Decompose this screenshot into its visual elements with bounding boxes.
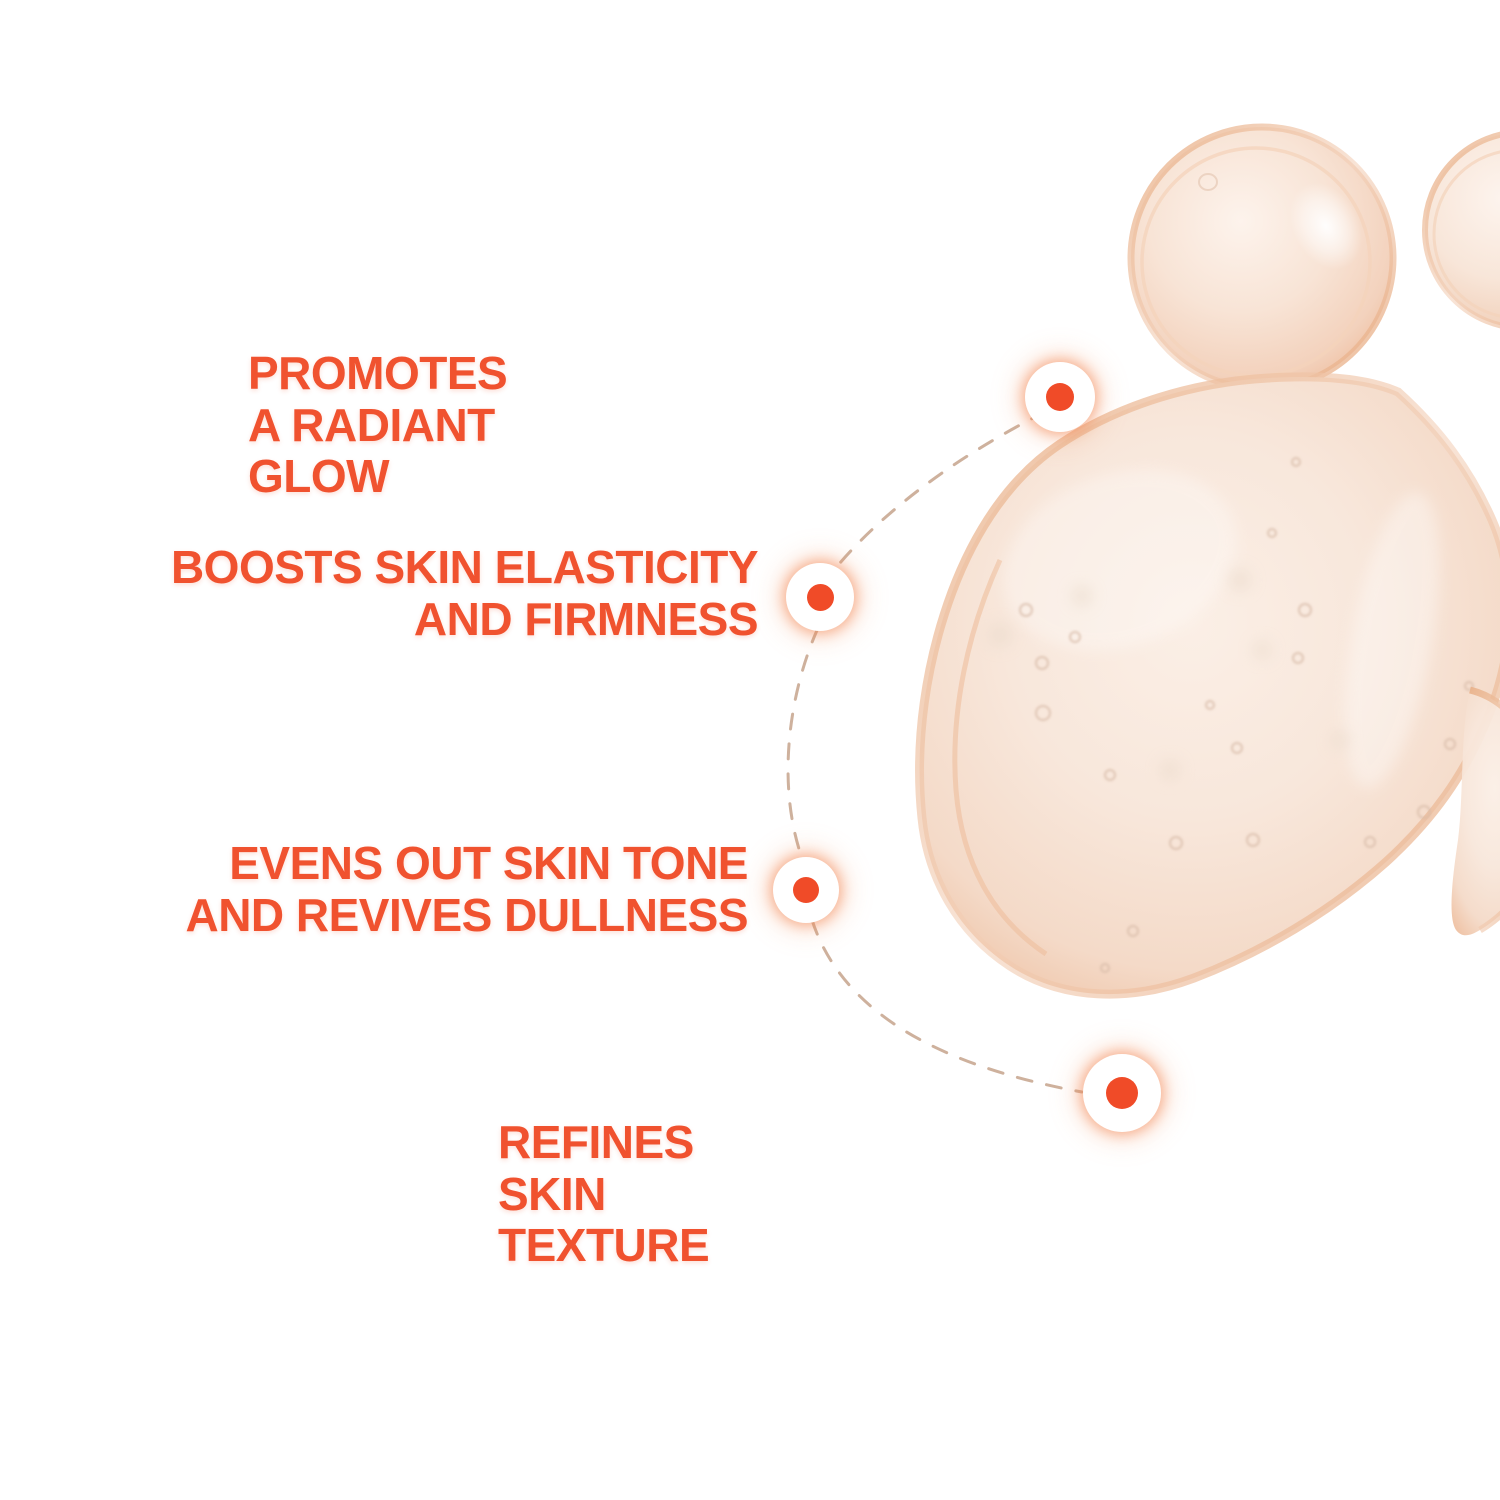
bullet-dot-core-3 <box>793 877 819 903</box>
connector-path-2 <box>788 628 818 858</box>
bullet-dot-icon-4[interactable] <box>1087 1058 1157 1128</box>
benefit-label-boosts-elasticity-firmness: BOOSTS SKIN ELASTICITY AND FIRMNESS <box>140 542 758 645</box>
bullet-dot-icon-3[interactable] <box>777 861 835 919</box>
bullet-dot-icon-1[interactable] <box>1029 366 1091 428</box>
bullet-dot-icon-2[interactable] <box>790 567 850 627</box>
connector-arc <box>0 0 1500 1500</box>
benefit-label-promotes-radiant-glow: PROMOTES A RADIANT GLOW <box>248 348 507 503</box>
connector-path-3 <box>812 920 1082 1092</box>
benefit-label-evens-skin-tone: EVENS OUT SKIN TONE AND REVIVES DULLNESS <box>150 838 748 941</box>
connector-path-1 <box>826 412 1045 580</box>
bullet-dot-core-4 <box>1106 1077 1138 1109</box>
benefit-label-refines-skin-texture: REFINES SKIN TEXTURE <box>498 1117 709 1272</box>
infographic-canvas: PROMOTES A RADIANT GLOW BOOSTS SKIN ELAS… <box>0 0 1500 1500</box>
bullet-dot-core-2 <box>807 584 834 611</box>
bullet-dot-core-1 <box>1046 383 1074 411</box>
